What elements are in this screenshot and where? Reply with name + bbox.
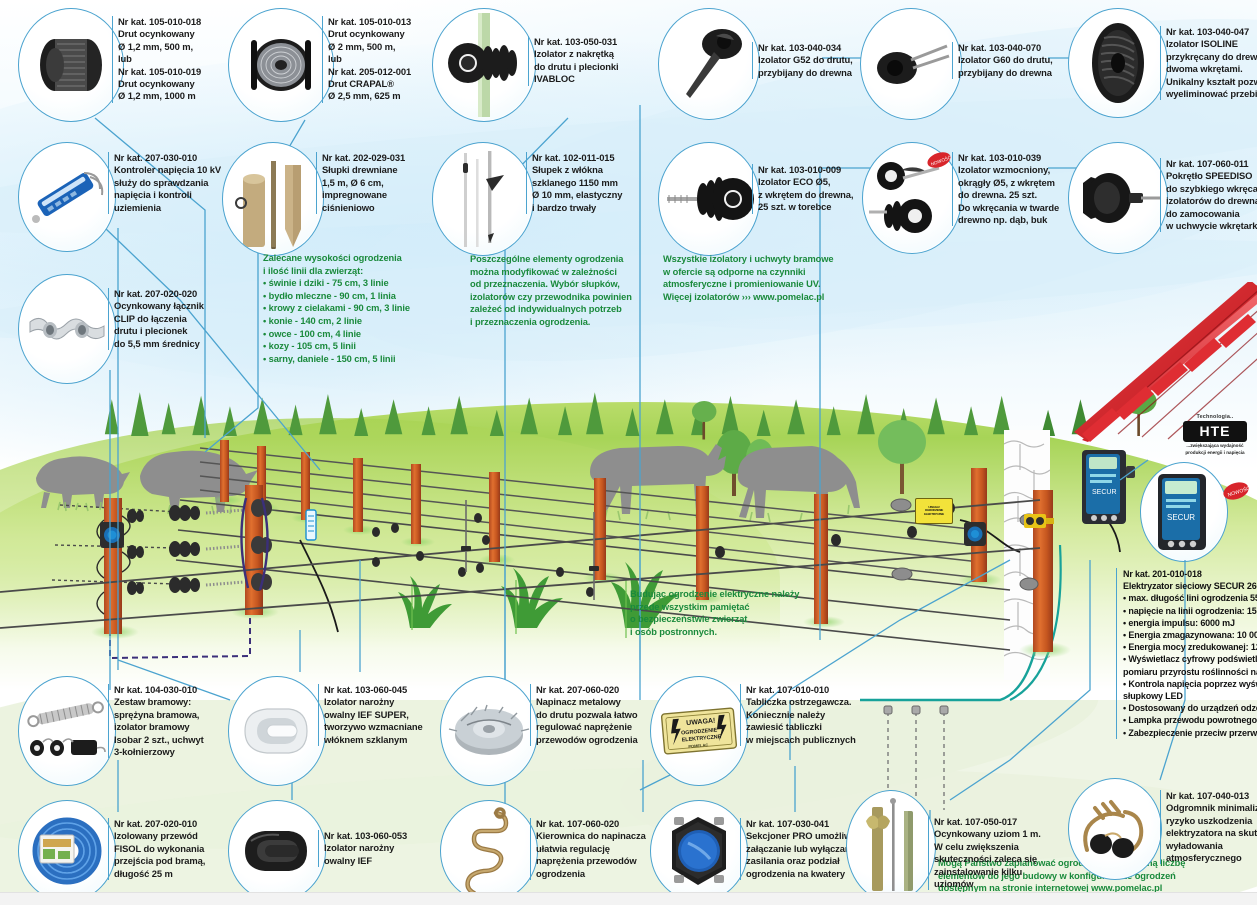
wooden-post-icon xyxy=(233,149,313,249)
callout-circle-wire-12[interactable] xyxy=(18,8,124,122)
electrifier-zoom-circle: SECUR xyxy=(1140,462,1228,562)
callout-circle-surge-arrester[interactable] xyxy=(1068,778,1162,880)
caption-eco-insulator: Nr kat. 103-010-009 Izolator ECO Ø5, z w… xyxy=(752,164,853,214)
note-heights: Zalecane wysokości ogrodzenia i ilość li… xyxy=(263,252,410,365)
callout-circle-isoline[interactable] xyxy=(1068,8,1168,118)
caption-isoline: Nr kat. 103-040-047 Izolator ISOLINE prz… xyxy=(1160,26,1257,100)
nail-insulator-icon xyxy=(869,34,953,94)
nail-insulator-icon xyxy=(668,22,750,106)
electrifier-zoom-icon: SECUR xyxy=(1156,472,1212,552)
callout-circle-corner-ief[interactable] xyxy=(228,800,326,902)
caption-ivabloc: Nr kat. 103-050-031 Izolator z nakrętką … xyxy=(528,36,618,86)
caption-wire-12: Nr kat. 105-010-018 Drut ocynkowany Ø 1,… xyxy=(112,16,201,103)
wild-boar-icon xyxy=(18,432,278,522)
caption-surge-arrester: Nr kat. 107-040-013 Odgromnik minimalizu… xyxy=(1160,790,1257,864)
callout-circle-clip[interactable] xyxy=(18,274,116,384)
caption-wire-2: Nr kat. 105-010-013 Drut ocynkowany Ø 2 … xyxy=(322,16,411,103)
caption-reinforced-insulator: Nr kat. 103-010-039 Izolator wzmocniony,… xyxy=(952,152,1059,226)
voltage-tester-icon xyxy=(26,161,108,233)
note-safety: Budując ogrodzenie elektryczne należy pr… xyxy=(630,588,799,638)
callout-circle-voltage-controller[interactable] xyxy=(18,142,116,252)
note-uv: Wszystkie izolatory i uchwyty bramowe w … xyxy=(663,253,833,303)
svg-text:SECUR: SECUR xyxy=(1167,513,1195,522)
callout-circle-g60[interactable] xyxy=(860,8,962,120)
caption-fisol: Nr kat. 207-020-010 Izolowany przewód FI… xyxy=(108,818,205,880)
svg-text:SECUR: SECUR xyxy=(1092,489,1117,496)
caption-corner-ief-super: Nr kat. 103-060-045 Izolator narożny owa… xyxy=(318,684,423,746)
sectioner-switch-icon xyxy=(658,813,740,889)
earth-rod-icon xyxy=(860,797,922,895)
caption-voltage-controller: Nr kat. 207-030-010 Kontroler napięcia 1… xyxy=(108,152,221,214)
callout-circle-tension-handle[interactable] xyxy=(440,800,538,902)
sectioner-switch-icon-2 xyxy=(962,520,988,548)
caption-gate-kit: Nr kat. 104-030-010 Zestaw bramowy: sprę… xyxy=(108,684,204,758)
gate-spring-icon xyxy=(25,694,109,768)
tension-handle-icon xyxy=(456,807,522,895)
warning-plate-icon: UWAGA! OGRODZENIE ELEKTRYCZNE POMELAC xyxy=(657,703,741,759)
surge-arrester-scene-icon xyxy=(1022,508,1056,534)
caption-g60: Nr kat. 103-040-070 Izolator G60 do drut… xyxy=(952,42,1053,79)
electrifier-cat-no: Nr kat. 201-010-018 xyxy=(1123,568,1257,580)
caption-g52: Nr kat. 103-040-034 Izolator G52 do drut… xyxy=(752,42,853,79)
plate-line-3: ELEKTRYCZNE xyxy=(924,513,944,516)
hte-sub-2: produkcji energii i napięcia xyxy=(1178,450,1252,456)
footer-strip xyxy=(0,892,1257,905)
farm-scene xyxy=(0,380,1257,700)
screw-insulator-icon xyxy=(663,167,755,231)
caption-tensioner: Nr kat. 207-060-020 Napinacz metalowy do… xyxy=(530,684,638,746)
nowosc-badge-icon-2: NOWOŚĆ xyxy=(926,148,952,172)
callout-circle-speediso[interactable] xyxy=(1068,142,1168,254)
callout-circle-wire-2[interactable] xyxy=(228,8,334,122)
caption-tension-handle: Nr kat. 107-060-020 Kierownica do napina… xyxy=(530,818,646,880)
hte-sub-1: ...zwiększająca wydajność xyxy=(1178,443,1252,449)
callout-circle-earth-rod[interactable] xyxy=(846,790,936,902)
hte-logo: HTE xyxy=(1183,421,1247,442)
electrifier-spec-block: Nr kat. 201-010-018 Elektryzator sieciow… xyxy=(1116,568,1257,739)
fiberglass-post-icon xyxy=(448,149,518,249)
note-modify: Poszczególne elementy ogrodzenia można m… xyxy=(470,253,632,329)
callout-circle-fiberglass-post[interactable] xyxy=(432,142,534,256)
callout-circle-g52[interactable] xyxy=(658,8,760,120)
voltage-tester-icon-scene xyxy=(303,508,319,542)
caption-clip: Nr kat. 207-020-020 Ocynkowany łącznik C… xyxy=(108,288,204,350)
cow-icon xyxy=(560,422,890,532)
callout-circle-eco-insulator[interactable] xyxy=(658,142,760,256)
caption-corner-ief: Nr kat. 103-060-053 Izolator narożny owa… xyxy=(318,830,407,867)
callout-circle-warning-sign[interactable]: UWAGA! OGRODZENIE ELEKTRYCZNE POMELAC xyxy=(650,676,748,786)
caption-speediso: Nr kat. 107-060-011 Pokrętło SPEEDISO do… xyxy=(1160,158,1257,232)
callout-circle-corner-ief-super[interactable] xyxy=(228,676,326,786)
nut-insulator-icon xyxy=(438,13,530,117)
surge-arrester-icon xyxy=(1075,796,1155,862)
caption-sectioner: Nr kat. 107-030-041 Sekcjoner PRO umożli… xyxy=(740,818,859,880)
callout-circle-tensioner[interactable] xyxy=(440,676,538,786)
sectioner-switch-icon xyxy=(98,520,126,550)
nowosc-badge-icon: NOWOŚĆ xyxy=(1222,478,1250,504)
caption-warning-sign: Nr kat. 107-010-010 Tabliczka ostrzegawc… xyxy=(740,684,856,746)
stone-wall-icon xyxy=(1004,430,1050,680)
cable-coil-icon xyxy=(28,815,106,887)
caption-wood-posts: Nr kat. 202-029-031 Słupki drewniane 1,5… xyxy=(316,152,405,214)
clip-connector-icon xyxy=(26,308,108,350)
callout-circle-wood-posts[interactable] xyxy=(222,142,324,256)
electrifier-device-icon: SECUR xyxy=(1080,448,1136,528)
callout-circle-ivabloc[interactable] xyxy=(432,8,536,122)
caption-earth-rod: Nr kat. 107-050-017 Ocynkowany uziom 1 m… xyxy=(928,816,1041,890)
hte-top-label: Technologia.. xyxy=(1178,414,1252,420)
wire-spool-icon xyxy=(31,36,111,94)
hte-badge: Technologia.. HTE ...zwiększająca wydajn… xyxy=(1178,414,1252,456)
callout-circle-fisol[interactable] xyxy=(18,800,116,902)
speediso-driver-icon xyxy=(1073,167,1163,229)
corner-insulator-icon xyxy=(237,825,317,877)
electrifier-title: Elektryzator sieciowy SECUR 2600-D HTE xyxy=(1123,580,1257,592)
corner-insulator-icon xyxy=(237,703,317,759)
caption-fiberglass-post: Nr kat. 102-011-015 Słupek z włókna szkl… xyxy=(526,152,622,214)
callout-circle-sectioner[interactable] xyxy=(650,800,748,902)
shell-insulator-icon xyxy=(1080,20,1156,106)
wire-spool-icon xyxy=(243,36,319,94)
scene-warning-plate: UWAGA! OGRODZENIE ELEKTRYCZNE xyxy=(915,498,953,524)
callout-circle-gate-kit[interactable] xyxy=(18,676,116,786)
tensioner-icon xyxy=(447,701,531,761)
